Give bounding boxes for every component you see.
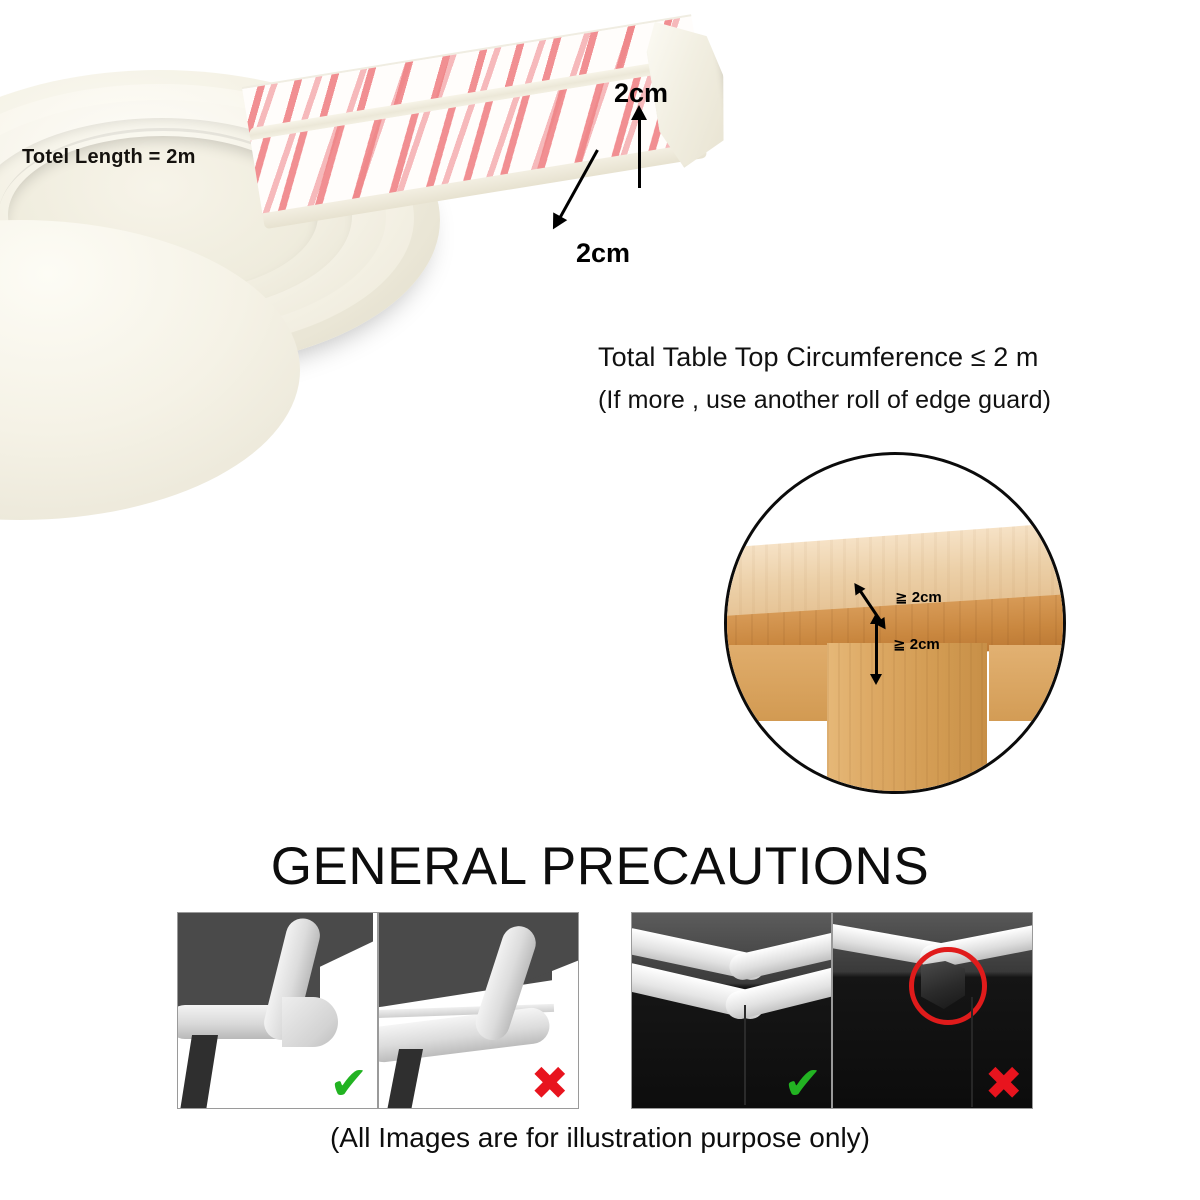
- inset-annotation-top: ≧ 2cm: [895, 588, 942, 606]
- precaution-panel-edge-incorrect: ✖: [378, 912, 579, 1109]
- inset-annotation-side: ≧ 2cm: [893, 635, 940, 653]
- precaution-panel-edge-correct: ✔: [177, 912, 378, 1109]
- infographic-canvas: Totel Length = 2m 2cm 2cm Total Table To…: [0, 0, 1200, 1200]
- red-highlight-circle-icon: [909, 947, 987, 1025]
- precaution-panel-corner-correct: ✔: [631, 912, 832, 1109]
- circumference-note: Total Table Top Circumference ≤ 2 m (If …: [598, 342, 1173, 415]
- illustration-disclaimer: (All Images are for illustration purpose…: [0, 1122, 1200, 1154]
- cross-icon: ✖: [984, 1060, 1023, 1106]
- precaution-panel-corner-incorrect: ✖: [832, 912, 1033, 1109]
- table-leg: [827, 643, 987, 794]
- dimension-arrow-up-icon: [638, 118, 641, 188]
- precaution-pair-edge: ✔ ✖: [177, 912, 579, 1109]
- edge-guard-corner-bend: [282, 997, 338, 1047]
- circumference-secondary-text: (If more , use another roll of edge guar…: [598, 386, 1173, 415]
- table-corner-inset: ≧ 2cm ≧ 2cm: [724, 452, 1066, 794]
- precaution-panels: ✔ ✖ ✔: [177, 912, 1033, 1109]
- profile-dimension-bottom-label: 2cm: [576, 238, 630, 269]
- corner-seam-line: [744, 1005, 746, 1105]
- cross-icon: ✖: [530, 1060, 569, 1106]
- precaution-pair-corner: ✔ ✖: [631, 912, 1033, 1109]
- circumference-primary-text: Total Table Top Circumference ≤ 2 m: [598, 342, 1173, 373]
- table-leg: [180, 1035, 218, 1109]
- table-apron-right: [989, 645, 1066, 721]
- precautions-title: GENERAL PRECAUTIONS: [0, 836, 1200, 897]
- check-icon: ✔: [329, 1060, 368, 1106]
- corner-seam-line: [971, 997, 973, 1107]
- check-icon: ✔: [783, 1060, 822, 1106]
- inset-arrow-vertical-icon: [875, 623, 878, 675]
- coil-length-label: Totel Length = 2m: [22, 146, 196, 169]
